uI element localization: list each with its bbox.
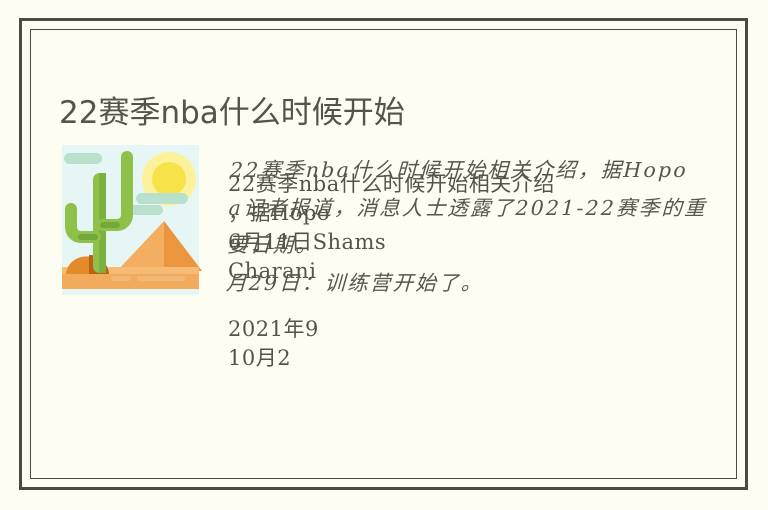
desert-cactus-illustration — [59, 143, 202, 301]
article-body: 22赛季nba什么时候开始相关介绍 ，据Hopo 6月11日Shams Char… — [228, 152, 728, 442]
page-title: 22赛季nba什么时候开始 — [59, 87, 405, 132]
article-body-overlay: 22赛季nba什么时候开始相关介绍，据Hopo a记者报道，消息人士透露了202… — [225, 152, 722, 302]
